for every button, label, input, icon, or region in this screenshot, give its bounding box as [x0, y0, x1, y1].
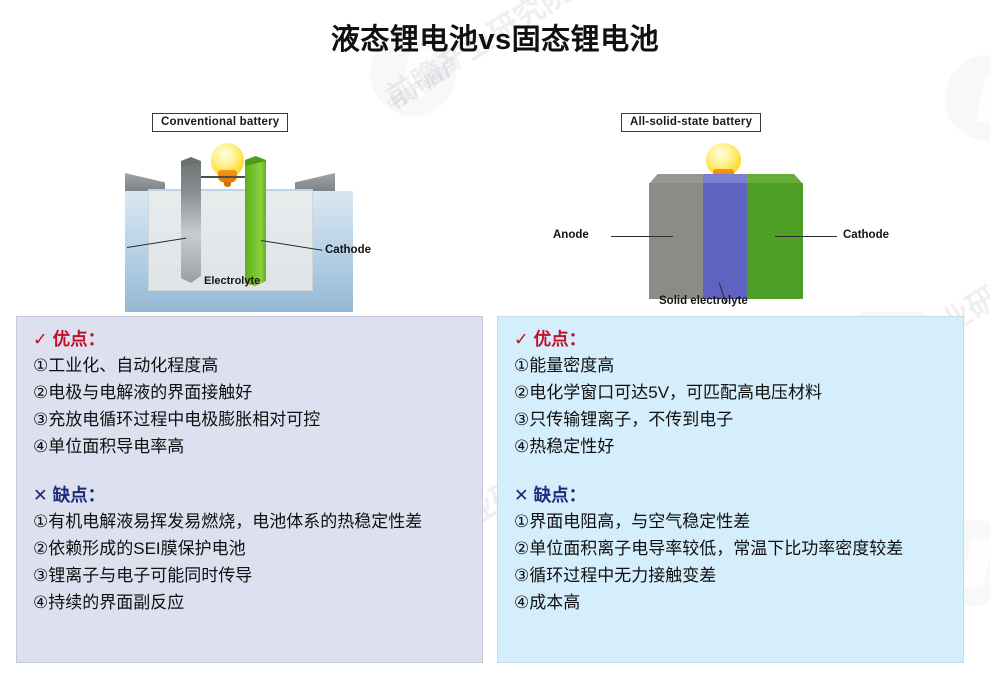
cross-icon: ✕	[33, 482, 48, 508]
section-spacer	[514, 460, 951, 482]
check-icon: ✓	[514, 326, 529, 352]
pros-heading-text: 优点：	[53, 329, 106, 349]
cons-item: ②单位面积离子电导率较低，常温下比功率密度较差	[514, 535, 951, 562]
cathode-leader-line	[775, 236, 837, 237]
cons-item: ④持续的界面副反应	[33, 589, 470, 616]
pros-item: ②电化学窗口可达5V，可匹配高电压材料	[514, 379, 951, 406]
bulb-tip	[224, 182, 231, 187]
liquid-surface-line	[148, 189, 313, 191]
panel-solid-state-lithium-battery: ✓优点： ①能量密度高 ②电化学窗口可达5V，可匹配高电压材料 ③只传输锂离子，…	[497, 316, 964, 663]
solid-electrolyte-block	[703, 183, 747, 299]
cathode-label: Cathode	[843, 229, 889, 241]
pros-item: ③只传输锂离子，不传到电子	[514, 406, 951, 433]
electrolyte-label: Electrolyte	[204, 275, 260, 287]
diagram-conventional-battery: Conventional battery Anode Cathode Elect…	[87, 105, 390, 312]
anode-label: Anode	[553, 229, 589, 241]
cathode-label: Cathode	[325, 244, 371, 256]
diagram-right-caption: All-solid-state battery	[621, 113, 761, 132]
cons-item: ①界面电阻高，与空气稳定性差	[514, 508, 951, 535]
check-icon: ✓	[33, 326, 48, 352]
solid-electrolyte-label: Solid electrolyte	[659, 295, 748, 307]
cons-item: ③锂离子与电子可能同时传导	[33, 562, 470, 589]
cons-heading-left: ✕缺点：	[33, 482, 470, 508]
pros-item: ①工业化、自动化程度高	[33, 352, 470, 379]
page-title: 液态锂电池vs固态锂电池	[0, 16, 990, 58]
diagram-left-caption: Conventional battery	[152, 113, 288, 132]
cons-item: ①有机电解液易挥发易燃烧，电池体系的热稳定性差	[33, 508, 470, 535]
panel-liquid-lithium-battery: ✓优点： ①工业化、自动化程度高 ②电极与电解液的界面接触好 ③充放电循环过程中…	[16, 316, 483, 663]
slide-root: 前瞻产业研究院 中国产业咨询 前瞻产业研究院 中国产业咨询 前瞻产业研究院 中国…	[0, 0, 990, 681]
anode-electrode	[181, 162, 201, 283]
pros-item: ③充放电循环过程中电极膨胀相对可控	[33, 406, 470, 433]
cross-icon: ✕	[514, 482, 529, 508]
cons-item: ②依赖形成的SEI膜保护电池	[33, 535, 470, 562]
cathode-electrode	[245, 161, 266, 286]
watermark-logo-topright	[945, 55, 990, 141]
cons-item: ④成本高	[514, 589, 951, 616]
pros-item: ④热稳定性好	[514, 433, 951, 460]
cons-heading-right: ✕缺点：	[514, 482, 951, 508]
cons-heading-text: 缺点：	[53, 485, 106, 505]
diagram-all-solid-state-battery: All-solid-state battery Anode Cathode So…	[533, 105, 928, 312]
pros-heading-left: ✓优点：	[33, 326, 470, 352]
pros-item: ①能量密度高	[514, 352, 951, 379]
pros-heading-text: 优点：	[534, 329, 587, 349]
watermark-sub-topleft: 中国产业咨询	[383, 53, 465, 114]
anode-block	[649, 183, 703, 299]
pros-item: ④单位面积导电率高	[33, 433, 470, 460]
pros-item: ②电极与电解液的界面接触好	[33, 379, 470, 406]
cons-heading-text: 缺点：	[534, 485, 587, 505]
section-spacer	[33, 460, 470, 482]
cons-item: ③循环过程中无力接触变差	[514, 562, 951, 589]
pros-heading-right: ✓优点：	[514, 326, 951, 352]
cathode-block	[747, 183, 803, 299]
anode-leader-line	[611, 236, 673, 237]
